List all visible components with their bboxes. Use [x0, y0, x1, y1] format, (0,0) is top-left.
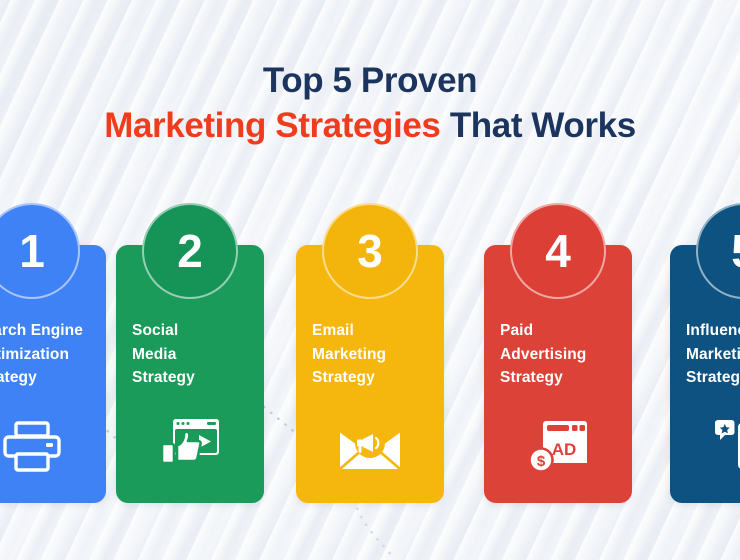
thumbs-up-video-icon: [116, 417, 264, 473]
step-badge-4: 4: [510, 203, 606, 299]
card-title-1: Search Engine Optimization Strategy: [0, 319, 90, 390]
influencer-person-icon: [670, 419, 740, 473]
step-badge-2: 2: [142, 203, 238, 299]
strategy-card-2[interactable]: 2 Social Media Strategy: [116, 245, 264, 503]
infographic-canvas: Top 5 Proven Marketing Strategies That W…: [0, 0, 740, 560]
step-number-3: 3: [357, 228, 383, 274]
step-number-4: 4: [545, 228, 571, 274]
strategy-card-row: 1 Search Engine Optimization Strategy 2 …: [0, 203, 740, 503]
ad-browser-dollar-icon: AD $: [484, 419, 632, 473]
card-title-2: Social Media Strategy: [132, 319, 248, 390]
step-badge-1: 1: [0, 203, 80, 299]
title-tail: That Works: [441, 106, 636, 145]
step-number-5: 5: [731, 228, 740, 274]
page-title: Top 5 Proven Marketing Strategies That W…: [0, 62, 740, 144]
connector-3-bottom: [348, 498, 400, 560]
strategy-card-1[interactable]: 1 Search Engine Optimization Strategy: [0, 245, 106, 503]
card-title-3: Email Marketing Strategy: [312, 319, 428, 390]
title-line-2: Marketing Strategies That Works: [0, 107, 740, 144]
strategy-card-3[interactable]: 3 Email Marketing Strategy: [296, 245, 444, 503]
strategy-card-4[interactable]: 4 Paid Advertising Strategy AD $: [484, 245, 632, 503]
title-highlight: Marketing Strategies: [104, 106, 440, 145]
step-number-1: 1: [19, 228, 45, 274]
printer-icon: [0, 421, 106, 473]
title-line-1: Top 5 Proven: [0, 62, 740, 99]
svg-text:AD: AD: [552, 440, 577, 459]
envelope-megaphone-icon: [296, 423, 444, 473]
card-title-5: Influencer Marketing Strategy: [686, 319, 740, 390]
svg-text:$: $: [537, 453, 546, 470]
step-badge-3: 3: [322, 203, 418, 299]
strategy-card-5[interactable]: 5 Influencer Marketing Strategy: [670, 245, 740, 503]
step-badge-5: 5: [696, 203, 740, 299]
step-number-2: 2: [177, 228, 203, 274]
card-title-4: Paid Advertising Strategy: [500, 319, 616, 390]
